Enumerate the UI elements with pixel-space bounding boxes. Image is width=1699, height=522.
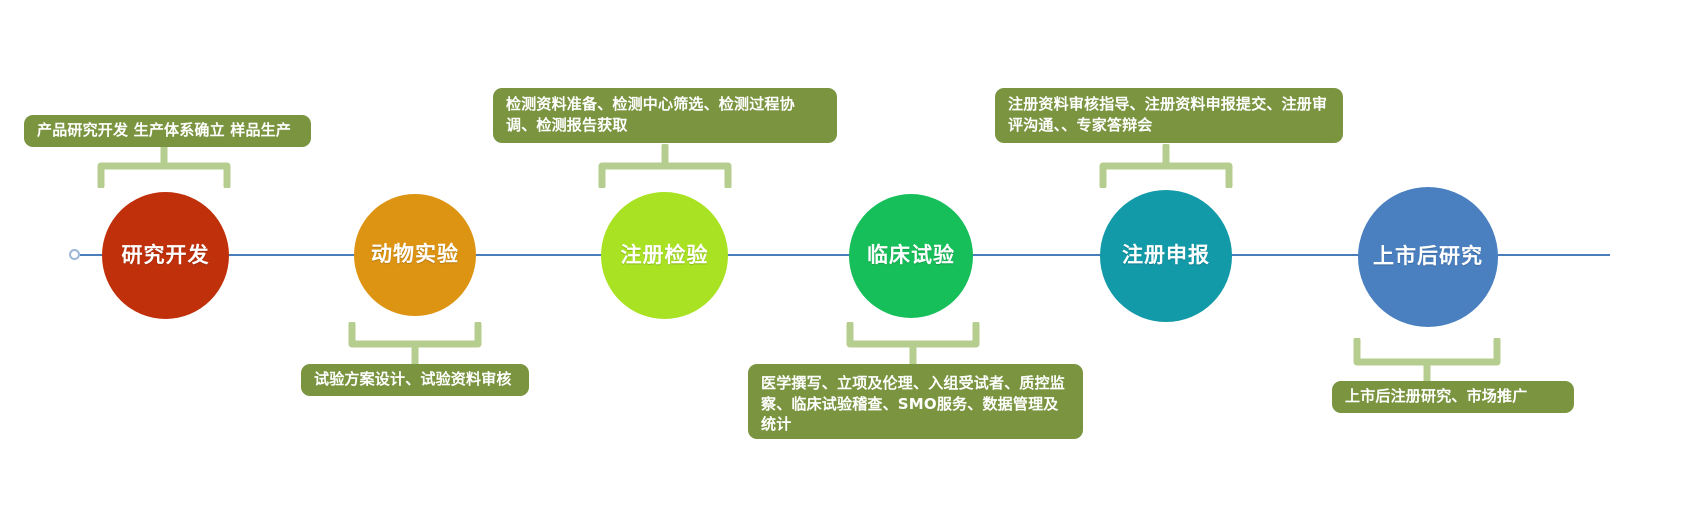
stage-label: 研究开发	[122, 244, 210, 267]
stage-circle-registration-inspection[interactable]: 注册检验	[601, 192, 728, 319]
stage-circle-animal-experiment[interactable]: 动物实验	[354, 194, 476, 316]
bracket-research-development	[96, 144, 232, 188]
callout-text: 产品研究开发 生产体系确立 样品生产	[37, 120, 291, 141]
callout-animal-experiment[interactable]: 试验方案设计、试验资料审核	[301, 364, 529, 396]
stage-label: 动物实验	[371, 243, 459, 266]
callout-text: 注册资料审核指导、注册资料申报提交、注册审评沟通、、专家答辩会	[1008, 94, 1330, 135]
callout-text: 医学撰写、立项及伦理、入组受试者、质控监察、临床试验稽查、SMO服务、数据管理及…	[761, 373, 1070, 435]
stage-circle-registration-application[interactable]: 注册申报	[1100, 190, 1232, 322]
callout-text: 试验方案设计、试验资料审核	[314, 369, 512, 390]
callout-clinical-trial[interactable]: 医学撰写、立项及伦理、入组受试者、质控监察、临床试验稽查、SMO服务、数据管理及…	[748, 364, 1083, 439]
callout-text: 上市后注册研究、市场推广	[1345, 386, 1527, 407]
callout-research-development[interactable]: 产品研究开发 生产体系确立 样品生产	[24, 115, 311, 147]
stage-circle-research-development[interactable]: 研究开发	[102, 192, 229, 319]
flow-diagram-canvas: 研究开发 动物实验 注册检验 临床试验 注册申报 上市后研究	[0, 0, 1699, 522]
stage-label: 注册申报	[1122, 244, 1210, 267]
bracket-registration-inspection	[597, 144, 733, 188]
timeline-start-dot	[69, 249, 80, 260]
bracket-registration-application	[1098, 144, 1234, 188]
bracket-animal-experiment	[347, 322, 483, 366]
stage-label: 临床试验	[867, 244, 955, 267]
bracket-clinical-trial	[845, 322, 981, 366]
callout-registration-inspection[interactable]: 检测资料准备、检测中心筛选、检测过程协调、检测报告获取	[493, 88, 837, 143]
stage-label: 注册检验	[621, 244, 709, 267]
callout-post-market-research[interactable]: 上市后注册研究、市场推广	[1332, 381, 1574, 413]
stage-circle-post-market-research[interactable]: 上市后研究	[1358, 187, 1498, 327]
stage-circle-clinical-trial[interactable]: 临床试验	[849, 194, 973, 318]
callout-text: 检测资料准备、检测中心筛选、检测过程协调、检测报告获取	[506, 94, 824, 135]
stage-label: 上市后研究	[1373, 245, 1483, 268]
callout-registration-application[interactable]: 注册资料审核指导、注册资料申报提交、注册审评沟通、、专家答辩会	[995, 88, 1343, 143]
